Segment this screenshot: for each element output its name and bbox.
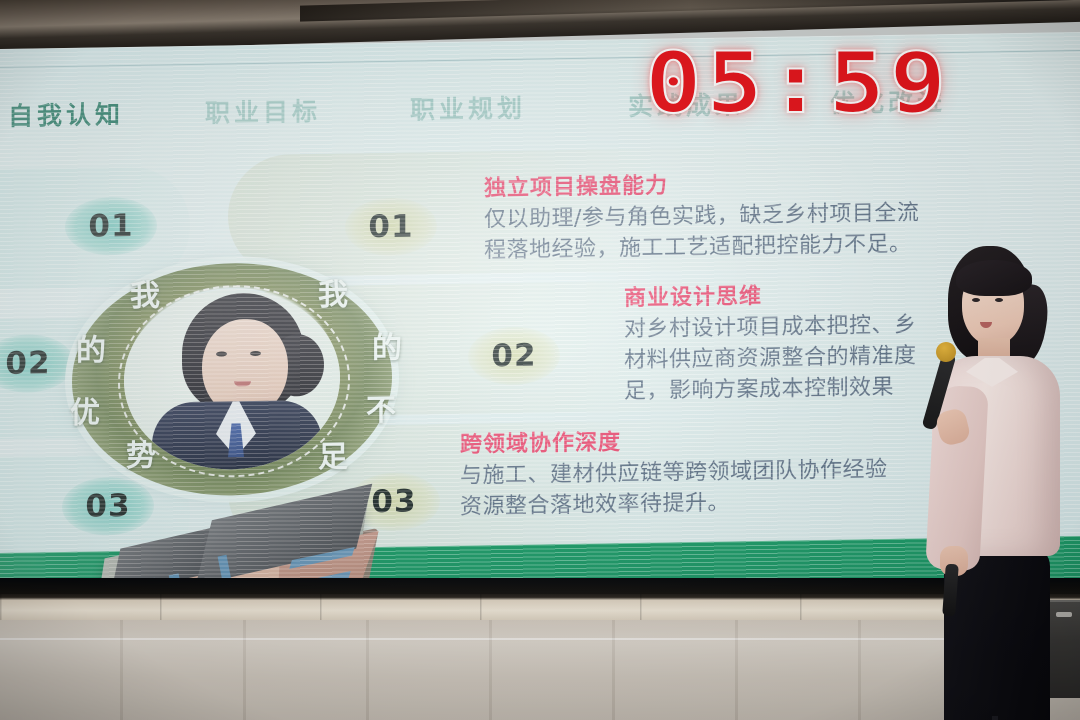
tab-self-awareness[interactable]: 自我认知	[8, 95, 124, 133]
weakness-text-2: 商业设计思维 对乡村设计项目成本把控、乡 材料供应商资源整合的精准度 足，影响方…	[624, 281, 917, 408]
weakness-body-2-line3: 足，影响方案成本控制效果	[624, 372, 917, 408]
emblem-right-char-2: 的	[372, 323, 402, 367]
emblem-left-char-4: 势	[126, 431, 156, 475]
presenter-eye-left	[972, 298, 980, 302]
presenter-leg-seam	[992, 716, 998, 720]
emblem-left-char-3: 优	[70, 387, 100, 431]
emblem-right-char-4: 足	[318, 431, 348, 475]
emblem-right-char-3: 不	[366, 385, 396, 429]
weakness-heading-2: 商业设计思维	[624, 281, 917, 314]
emblem-right-char-1: 我	[318, 269, 348, 313]
auditorium-scene: 自我认知 职业目标 职业规划 实践成果 优化改进 力 能 乡 。 储备	[0, 0, 1080, 720]
emblem-left-char-1: 我	[130, 270, 160, 314]
weakness-text-3: 跨领域协作深度 与施工、建材供应链等跨领域团队协作经验 资源整合落地效率待提升。	[460, 425, 888, 523]
presenter-figure	[896, 246, 1080, 720]
emblem-left-char-2: 的	[76, 325, 106, 369]
countdown-timer: 05:59	[645, 34, 951, 132]
tab-career-plan[interactable]: 职业规划	[410, 89, 526, 127]
presenter-eye-right	[995, 298, 1003, 302]
weakness-text-1: 独立项目操盘能力 仅以助理/参与角色实践，缺乏乡村项目全流 程落地经验，施工工艺…	[484, 169, 919, 267]
presenter-fringe	[956, 260, 1032, 296]
weakness-body-2-line1: 对乡村设计项目成本把控、乡	[624, 309, 917, 345]
weakness-body-2-line2: 材料供应商资源整合的精准度	[624, 340, 917, 376]
tab-career-goal[interactable]: 职业目标	[205, 92, 321, 130]
